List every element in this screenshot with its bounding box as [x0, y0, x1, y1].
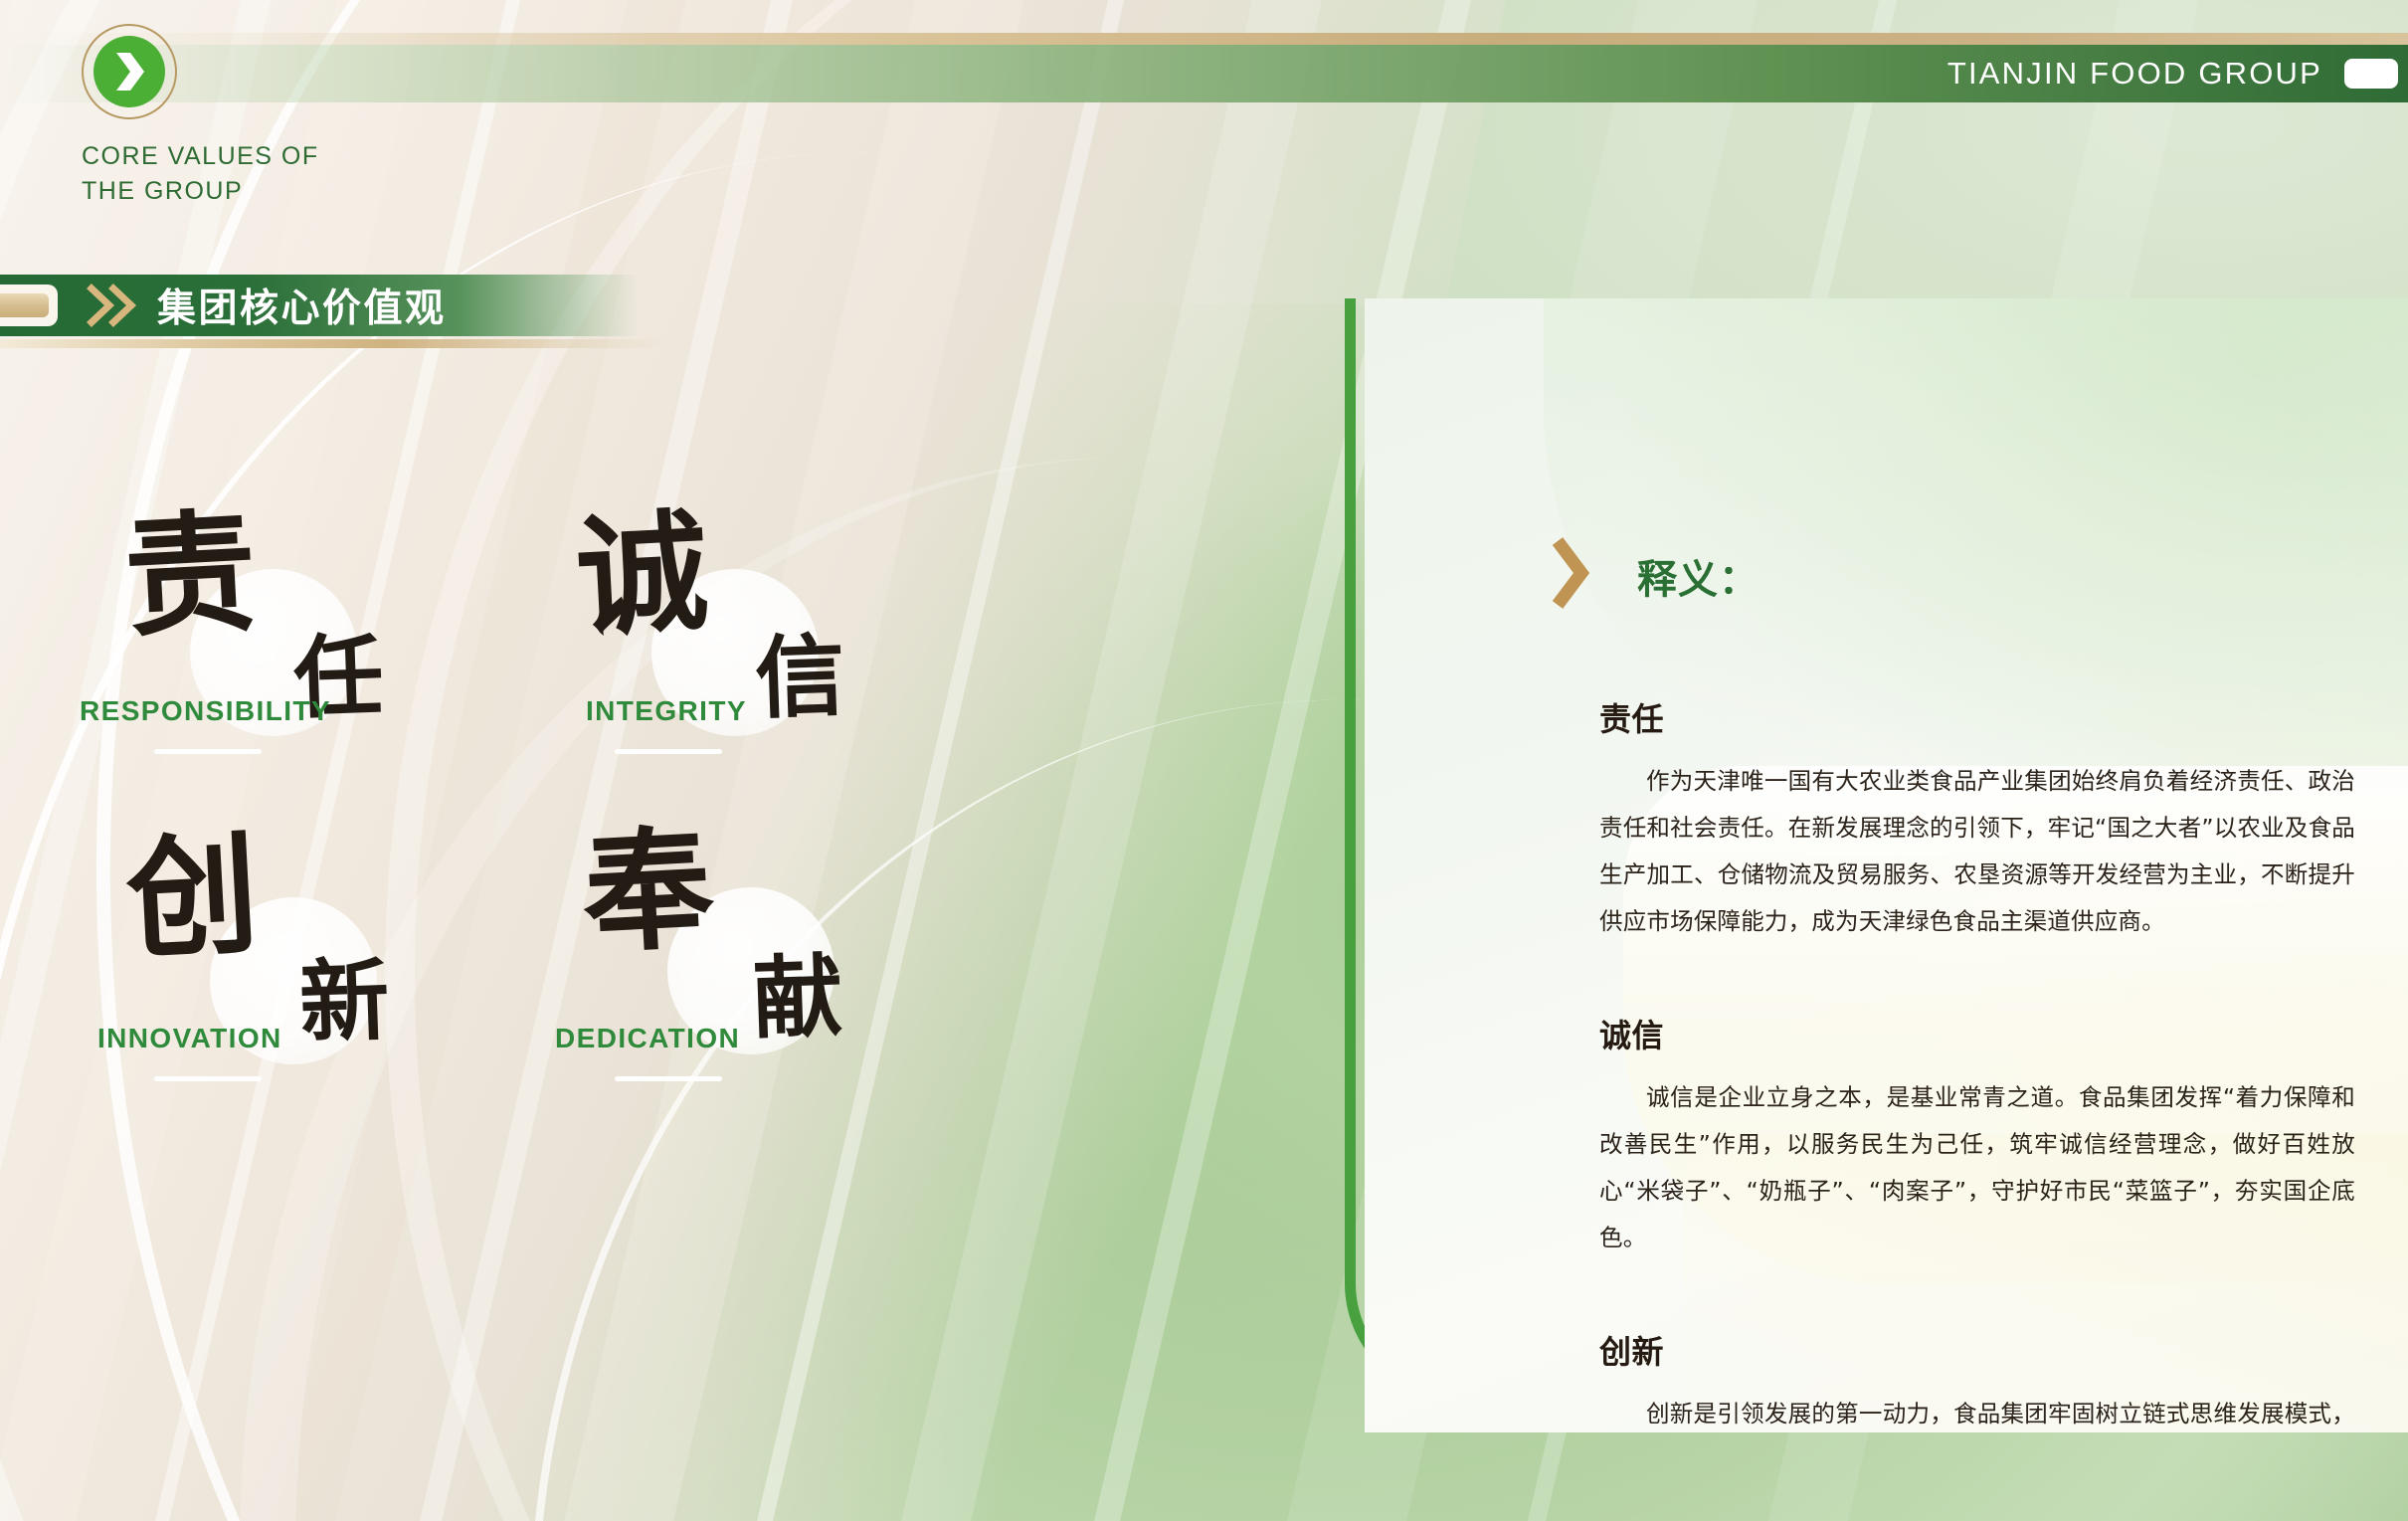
value-underline — [154, 1076, 262, 1081]
logo-ring — [82, 24, 177, 119]
panel-section-innovation: 创新 创新是引领发展的第一动力，食品集团牢固树立链式思维发展模式，坚持创新赋能产… — [1599, 1327, 2355, 1432]
panel-sections: 责任 作为天津唯一国有大农业类食品产业集团始终肩负着经济责任、政治责任和社会责任… — [1599, 694, 2355, 1432]
value-card-innovation[interactable]: 创 新 INNOVATION — [104, 838, 522, 1166]
value-character-secondary: 献 — [751, 923, 844, 1055]
brand-chip-icon — [2344, 59, 2398, 89]
double-chevron-right-icon — [86, 283, 143, 328]
explanation-panel: 释义： 责任 作为天津唯一国有大农业类食品产业集团始终肩负着经济责任、政治责任和… — [1365, 298, 2408, 1432]
section-title-underline — [0, 339, 666, 348]
value-underline — [615, 749, 722, 754]
section-heading: 诚信 — [1599, 1011, 2355, 1056]
section-heading: 创新 — [1599, 1327, 2355, 1373]
title-tab-ornament — [0, 285, 58, 326]
value-label-en: INNOVATION — [97, 1023, 282, 1054]
chevron-right-gold-icon — [1550, 535, 1591, 616]
section-body: 创新是引领发展的第一动力，食品集团牢固树立链式思维发展模式，坚持创新赋能产业发展… — [1599, 1391, 2355, 1432]
value-underline — [154, 749, 262, 754]
poster-canvas: TIANJIN FOOD GROUP CORE VALUES OF THE GR… — [0, 0, 2408, 1521]
core-values-grid: 责 任 RESPONSIBILITY 诚 信 INTEGRITY 创 新 INN… — [104, 497, 940, 1166]
value-character-primary: 奉 — [577, 783, 718, 980]
panel-heading: 释义： — [1637, 547, 1760, 605]
group-logo: CORE VALUES OF THE GROUP — [82, 24, 390, 208]
core-values-row-bottom: 创 新 INNOVATION 奉 献 DEDICATION — [104, 838, 940, 1166]
value-label-en: DEDICATION — [555, 1023, 740, 1054]
value-card-integrity[interactable]: 诚 信 INTEGRITY — [522, 497, 940, 826]
value-character-primary: 诚 — [571, 467, 712, 664]
logo-caption: CORE VALUES OF THE GROUP — [82, 139, 390, 208]
section-body: 作为天津唯一国有大农业类食品产业集团始终肩负着经济责任、政治责任和社会责任。在新… — [1599, 758, 2355, 945]
value-character-secondary: 新 — [297, 927, 391, 1059]
logo-caption-line-2: THE GROUP — [82, 174, 390, 209]
value-label-en: RESPONSIBILITY — [80, 695, 331, 727]
value-label-en: INTEGRITY — [586, 695, 747, 727]
core-values-row-top: 责 任 RESPONSIBILITY 诚 信 INTEGRITY — [104, 497, 940, 826]
value-underline — [615, 1076, 722, 1081]
value-character-primary: 责 — [119, 467, 261, 664]
section-body: 诚信是企业立身之本，是基业常青之道。食品集团发挥“着力保障和改善民生”作用，以服… — [1599, 1074, 2355, 1261]
section-title-bar: 集团核心价值观 — [0, 275, 639, 336]
panel-section-responsibility: 责任 作为天津唯一国有大农业类食品产业集团始终肩负着经济责任、政治责任和社会责任… — [1599, 694, 2355, 945]
section-heading: 责任 — [1599, 694, 2355, 740]
panel-heading-group: 释义： — [1550, 535, 1760, 616]
brand-name: TIANJIN FOOD GROUP — [1947, 56, 2322, 92]
value-character-primary: 创 — [121, 789, 263, 986]
value-character-secondary: 信 — [753, 603, 846, 735]
logo-caption-line-1: CORE VALUES OF — [82, 139, 390, 174]
value-card-dedication[interactable]: 奉 献 DEDICATION — [522, 838, 940, 1166]
title-tab-gold-block — [0, 293, 49, 317]
section-title: 集团核心价值观 — [157, 278, 447, 333]
panel-section-integrity: 诚信 诚信是企业立身之本，是基业常青之道。食品集团发挥“着力保障和改善民生”作用… — [1599, 1011, 2355, 1261]
chevron-right-circle-icon — [93, 36, 165, 107]
value-card-responsibility[interactable]: 责 任 RESPONSIBILITY — [104, 497, 522, 826]
